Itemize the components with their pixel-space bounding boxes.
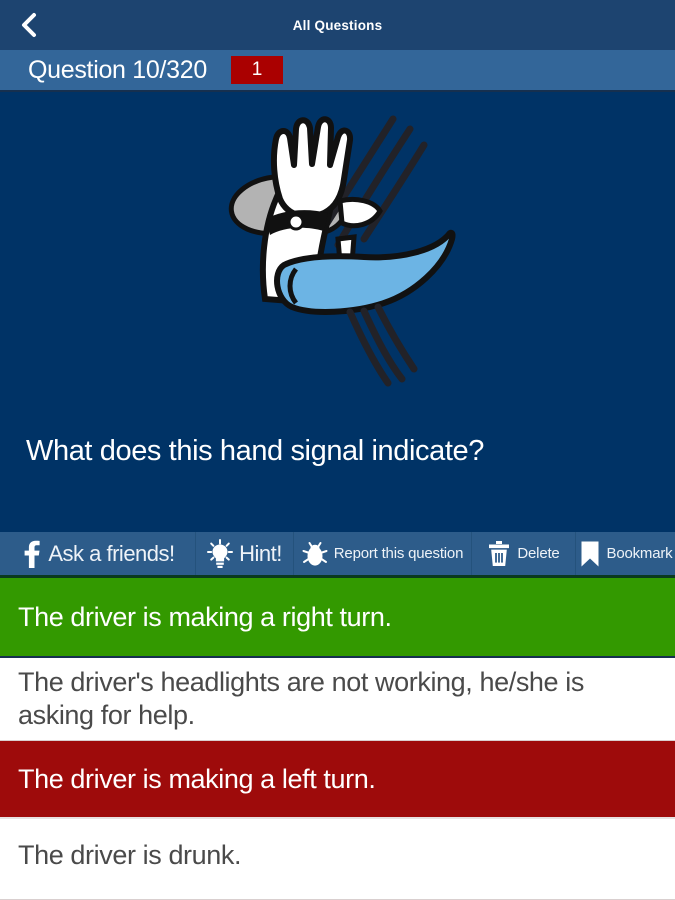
status-badge: 1: [231, 56, 283, 84]
bookmark-button[interactable]: Bookmark: [576, 532, 675, 575]
ask-a-friend-button[interactable]: Ask a friends!: [0, 532, 196, 575]
page-title: All Questions: [293, 18, 383, 33]
answer-option-1[interactable]: The driver is making a right turn.: [0, 578, 675, 658]
ask-a-friend-label: Ask a friends!: [48, 541, 174, 567]
answer-option-2[interactable]: The driver's headlights are not working,…: [0, 658, 675, 741]
report-question-button[interactable]: Report this question: [294, 532, 472, 575]
answer-option-1-label: The driver is making a right turn.: [18, 601, 392, 634]
watch-face: [289, 215, 303, 229]
answer-options-list: The driver is making a right turn. The d…: [0, 578, 675, 900]
question-image-area: [0, 92, 675, 422]
hand-signal-right-turn-illustration: [188, 107, 488, 407]
answer-option-4-label: The driver is drunk.: [18, 839, 241, 872]
question-progress-bar: Question 10/320 1: [0, 50, 675, 92]
answer-option-2-label: The driver's headlights are not working,…: [18, 666, 659, 732]
answer-option-3[interactable]: The driver is making a left turn.: [0, 741, 675, 819]
report-question-label: Report this question: [334, 545, 463, 562]
chevron-left-icon: [20, 11, 38, 39]
bookmark-icon: [579, 540, 601, 568]
quiz-screen: All Questions Question 10/320 1: [0, 0, 675, 900]
answer-option-3-label: The driver is making a left turn.: [18, 763, 375, 796]
answer-option-4[interactable]: The driver is drunk.: [0, 819, 675, 900]
bookmark-label: Bookmark: [607, 545, 673, 562]
action-toolbar: Ask a friends!: [0, 532, 675, 578]
trash-icon: [487, 540, 511, 568]
bug-icon: [302, 540, 328, 568]
question-prompt-area: What does this hand signal indicate?: [0, 422, 675, 532]
delete-button[interactable]: Delete: [472, 532, 576, 575]
navigation-bar: All Questions: [0, 0, 675, 50]
facebook-icon: [20, 540, 42, 568]
delete-label: Delete: [517, 545, 559, 562]
back-button[interactable]: [0, 0, 58, 50]
question-text: What does this hand signal indicate?: [26, 434, 484, 468]
hint-label: Hint!: [239, 541, 282, 567]
hint-button[interactable]: Hint!: [196, 532, 294, 575]
question-counter-label: Question 10/320: [28, 56, 207, 85]
lightbulb-icon: [207, 539, 233, 569]
